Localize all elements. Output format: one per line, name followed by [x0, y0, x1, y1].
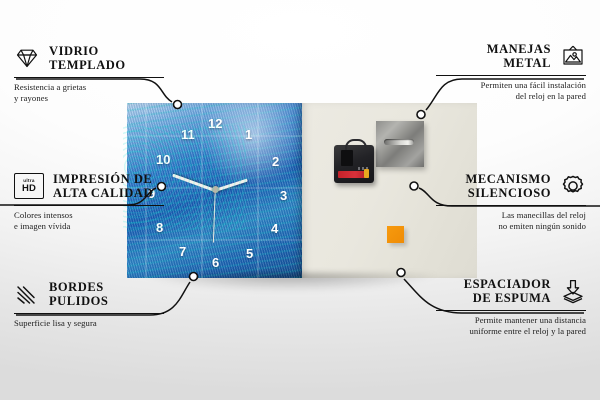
- callout-rule: [436, 75, 586, 76]
- battery-contact: [364, 169, 369, 178]
- clock-numeral-6: 6: [212, 256, 219, 269]
- ultra-hd-badge-icon: ultra HD: [14, 173, 44, 199]
- callout-title-line1: BORDES: [49, 280, 108, 294]
- ultra-hd-big-text: HD: [22, 184, 36, 194]
- callout-desc-line2: del reloj en la pared: [376, 91, 586, 103]
- hanger-slot: [384, 139, 414, 145]
- callout-title-line1: ESPACIADOR: [464, 277, 551, 291]
- callout-manejas-metal: MANEJAS METAL Permiten una fácil instala…: [376, 42, 586, 103]
- callout-desc-line1: Superficie lisa y segura: [14, 318, 224, 330]
- callout-desc-line1: Permite mantener una distancia: [376, 315, 586, 327]
- callout-rule: [14, 313, 164, 314]
- diamond-icon: [14, 45, 40, 71]
- callout-mecanismo-silencioso: MECANISMO SILENCIOSO Las manecillas del …: [376, 172, 586, 233]
- callout-desc-line2: e imagen vívida: [14, 221, 224, 233]
- callout-rule: [14, 205, 164, 206]
- callout-desc-line1: Resistencia a grietas: [14, 82, 224, 94]
- callout-title-line2: METAL: [487, 56, 551, 70]
- callout-rule: [14, 77, 164, 78]
- callout-impresion-alta-calidad: ultra HD IMPRESIÓN DE ALTA CALIDAD Color…: [14, 172, 224, 233]
- metal-hanger-plate: [376, 121, 424, 167]
- callout-title-line2: ALTA CALIDAD: [53, 186, 153, 200]
- callout-title-line1: MECANISMO: [465, 172, 551, 186]
- callout-desc-line1: Permiten una fácil instalación: [376, 80, 586, 92]
- callout-bordes-pulidos: BORDES PULIDOS Superficie lisa y segura: [14, 280, 224, 329]
- callout-rule: [436, 205, 586, 206]
- gear-icon: [560, 173, 586, 199]
- arrow-into-layers-icon: [560, 278, 586, 304]
- callout-title-line2: PULIDOS: [49, 294, 108, 308]
- callout-title-line2: SILENCIOSO: [465, 186, 551, 200]
- clock-numeral-12: 12: [208, 117, 222, 130]
- callout-desc-line1: Las manecillas del reloj: [376, 210, 586, 222]
- callout-desc-line2: uniforme entre el reloj y la pared: [376, 326, 586, 338]
- callout-rule: [436, 310, 586, 311]
- callout-title-line1: MANEJAS: [487, 42, 551, 56]
- clock-numeral-7: 7: [179, 245, 186, 258]
- callout-title-line1: VIDRIO: [49, 44, 126, 58]
- picture-frame-hanger-icon: [560, 43, 586, 69]
- callout-title-line2: DE ESPUMA: [464, 291, 551, 305]
- callout-title-line1: IMPRESIÓN DE: [53, 172, 153, 186]
- callout-vidrio-templado: VIDRIO TEMPLADO Resistencia a grietas y …: [14, 44, 224, 105]
- clock-numeral-11: 11: [181, 128, 195, 141]
- clock-numeral-3: 3: [280, 189, 287, 202]
- mechanism-hanger-loop: [345, 139, 367, 150]
- callout-desc-line2: y rayones: [14, 93, 224, 105]
- callout-espaciador-de-espuma: ESPACIADOR DE ESPUMA Permite mantener un…: [376, 277, 586, 338]
- clock-numeral-10: 10: [156, 153, 170, 166]
- callout-desc-line1: Colores intensos: [14, 210, 224, 222]
- callout-desc-line2: no emiten ningún sonido: [376, 221, 586, 233]
- clock-numeral-1: 1: [245, 128, 252, 141]
- infographic-canvas: 12 1 2 3 4 5 6 7 8 9 10 11: [0, 0, 600, 400]
- clock-numeral-2: 2: [272, 155, 279, 168]
- clock-numeral-5: 5: [246, 247, 253, 260]
- callout-title-line2: TEMPLADO: [49, 58, 126, 72]
- polished-edges-icon: [14, 281, 40, 307]
- quartz-mechanism-box: [334, 145, 374, 183]
- mechanism-shaft-slot: [341, 150, 353, 166]
- clock-numeral-4: 4: [271, 222, 278, 235]
